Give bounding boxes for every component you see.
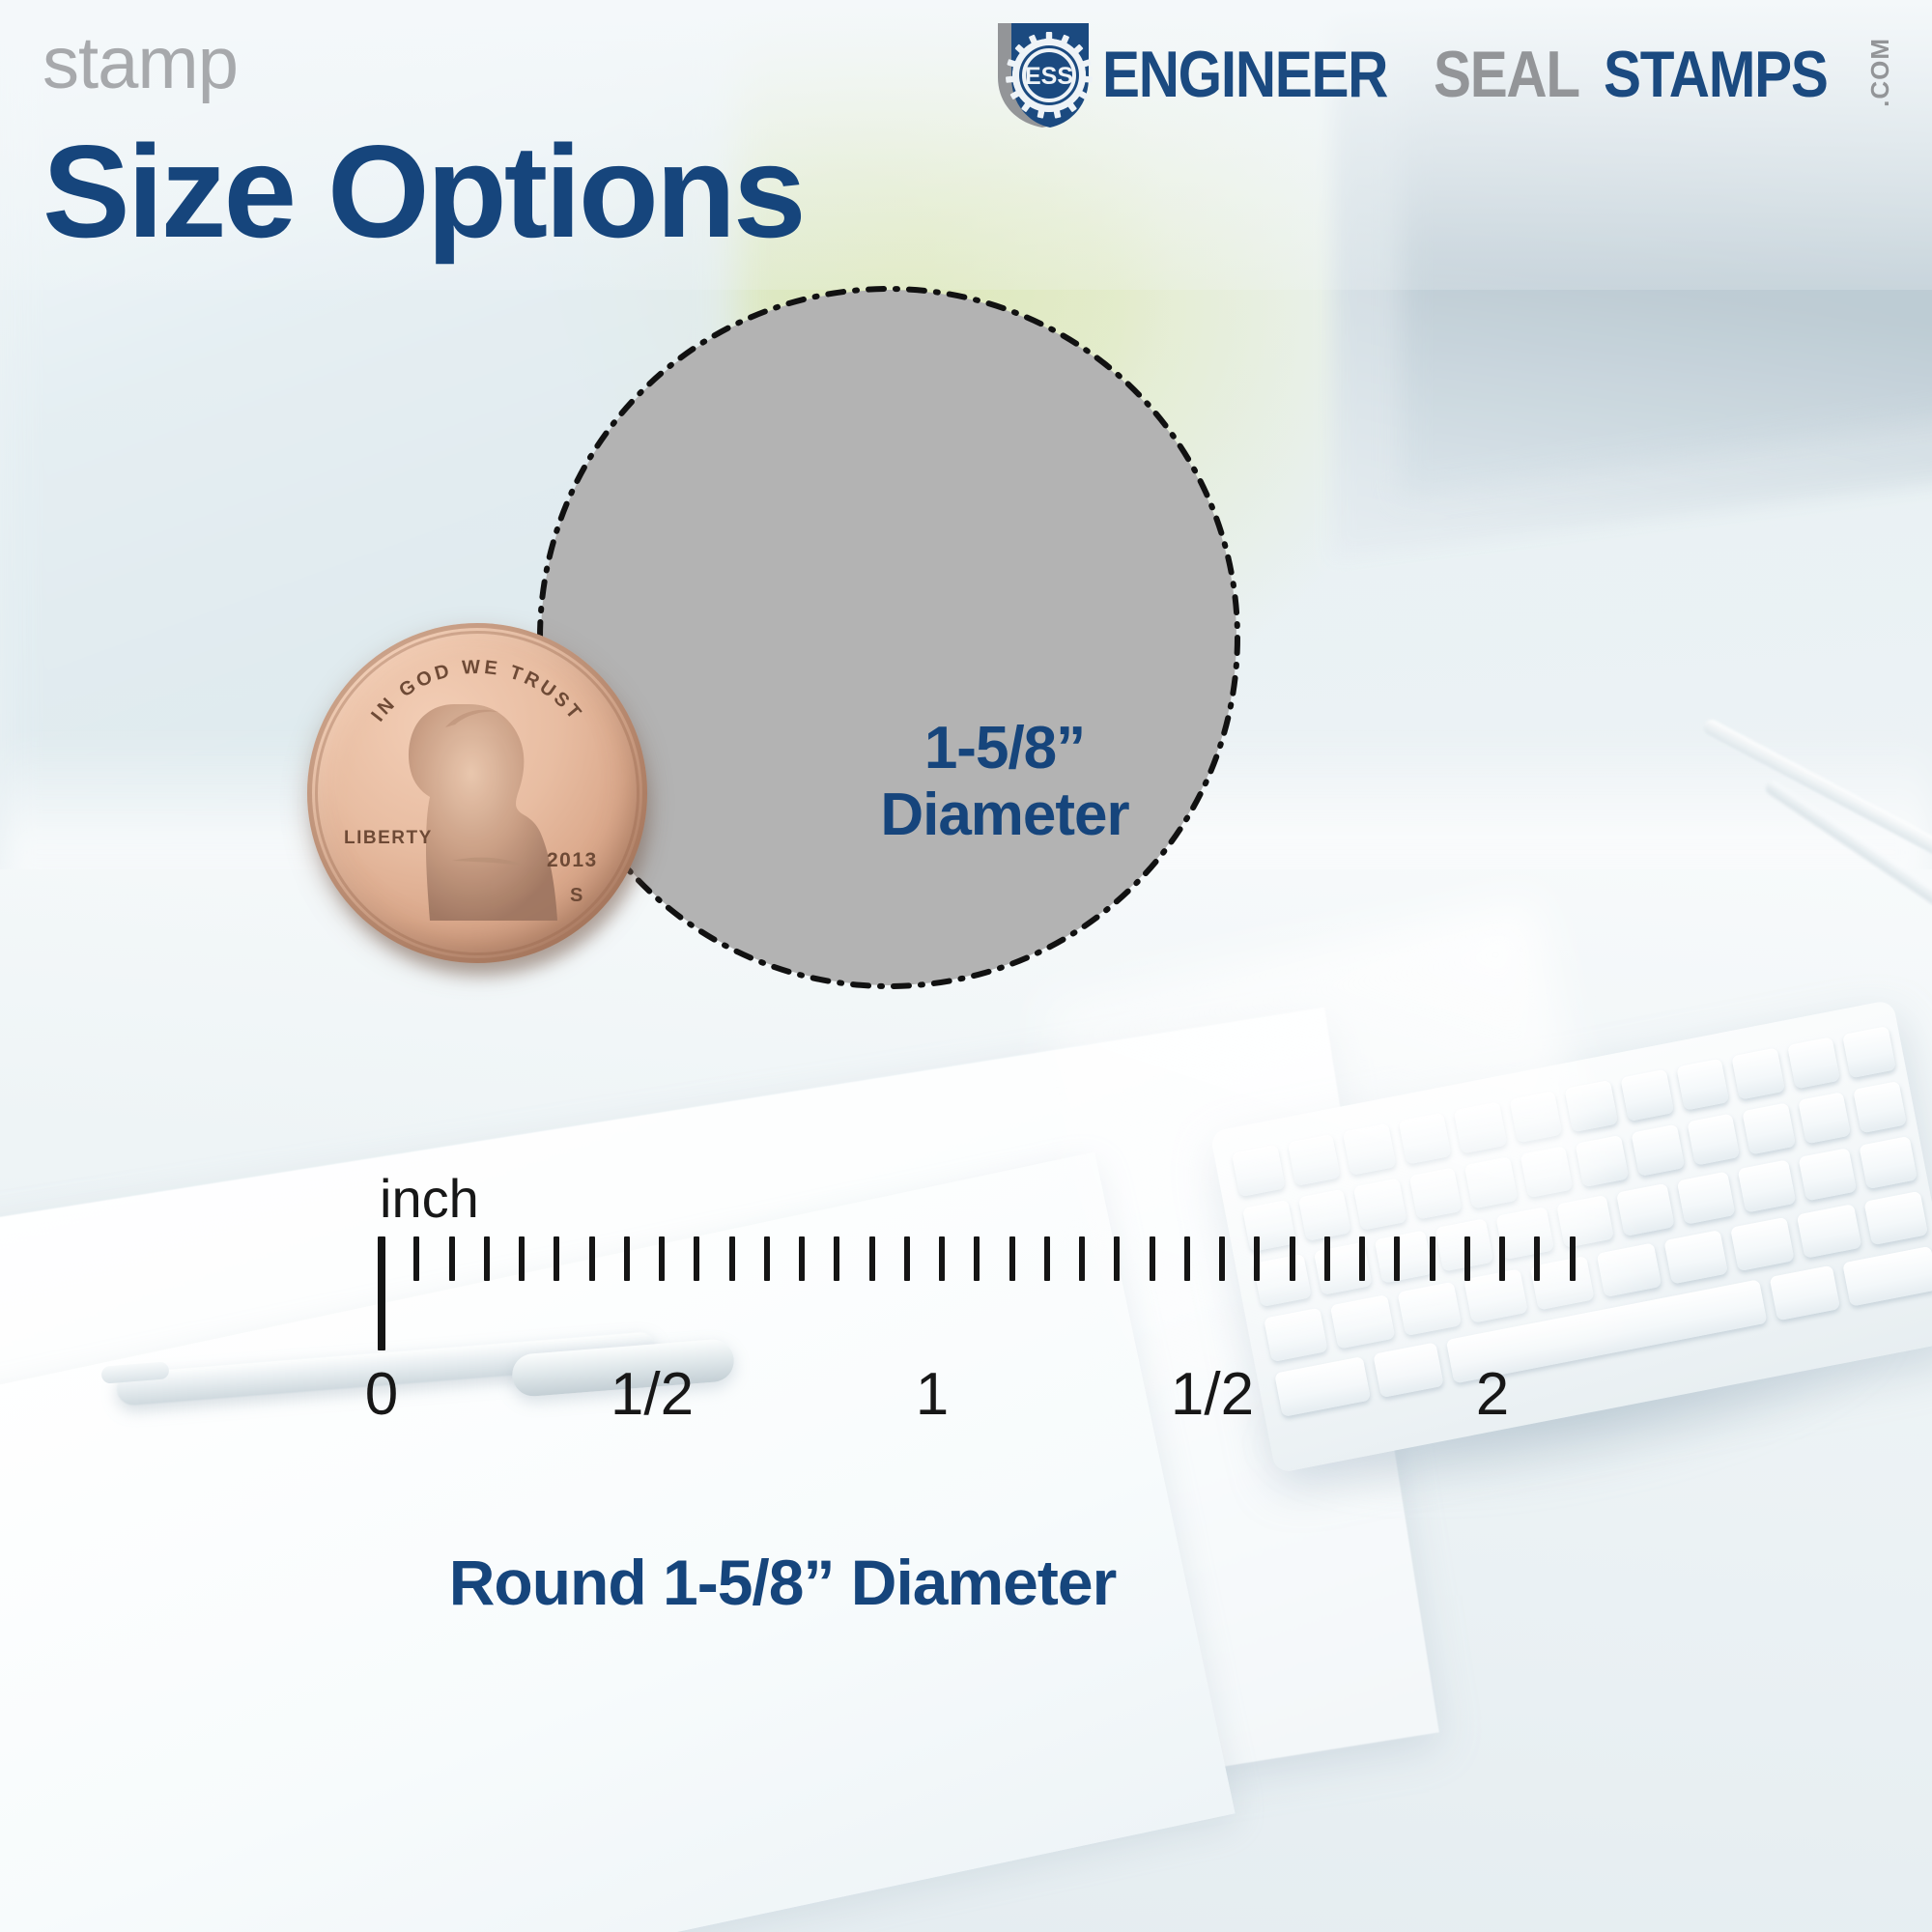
brand-logo[interactable]: ESS ENGINEER SEAL STAMPS .COM <box>982 17 1895 131</box>
ruler-tick-minor <box>1219 1236 1225 1281</box>
penny-mintmark-text: S <box>570 885 582 906</box>
brand-wordmark: ENGINEER SEAL STAMPS .COM <box>1102 38 1895 111</box>
ruler-tick-minor <box>1464 1236 1470 1281</box>
penny-reference-coin: IN GOD WE TRUST LIBERTY 2013 S <box>307 623 647 963</box>
ess-shield-icon: ESS <box>982 17 1096 131</box>
wordmark-dotcom: .COM <box>1865 38 1895 107</box>
ruler-tick-minor <box>1150 1236 1155 1281</box>
ruler-tick-minor <box>834 1236 839 1281</box>
ruler-label: 0 <box>314 1360 449 1429</box>
ruler-tick-minor <box>1254 1236 1260 1281</box>
ruler-tick-minor <box>413 1236 419 1281</box>
ruler-tick-minor <box>904 1236 910 1281</box>
ruler-tick-minor <box>484 1236 490 1281</box>
ruler-label: 1 <box>865 1360 1000 1429</box>
stamp-size-value: 1-5/8” <box>734 715 1275 781</box>
ruler-tick-minor <box>1184 1236 1190 1281</box>
ruler-tick-minor <box>1079 1236 1085 1281</box>
ruler-label: 2 <box>1425 1360 1560 1429</box>
ruler-tick-minor <box>1499 1236 1505 1281</box>
ruler-tick-minor <box>1290 1236 1295 1281</box>
ruler-tick-minor <box>764 1236 770 1281</box>
ruler-tick-minor <box>1324 1236 1330 1281</box>
ruler-tick-minor <box>799 1236 805 1281</box>
wordmark-stamps: STAMPS <box>1604 42 1828 107</box>
penny-liberty-text: LIBERTY <box>344 828 433 848</box>
wordmark-seal: SEAL <box>1434 42 1579 107</box>
ruler-tick-minor <box>1044 1236 1050 1281</box>
ruler-tick-major <box>378 1236 385 1350</box>
ruler-tick-minor <box>624 1236 630 1281</box>
ruler-tick-minor <box>974 1236 980 1281</box>
page-title: Size Options <box>43 126 804 257</box>
ruler-unit-label: inch <box>380 1167 479 1230</box>
ruler-tick-minor <box>519 1236 525 1281</box>
ruler-label: 1/2 <box>584 1360 720 1429</box>
ruler-tick-minor <box>1114 1236 1120 1281</box>
ruler-tick-minor <box>869 1236 875 1281</box>
ruler-tick-minor <box>659 1236 665 1281</box>
ruler-tick-minor <box>694 1236 699 1281</box>
ruler-tick-minor <box>1009 1236 1015 1281</box>
stamp-size-label: 1-5/8” Diameter <box>734 715 1275 849</box>
penny-face: IN GOD WE TRUST LIBERTY 2013 S <box>307 623 647 963</box>
ruler-tick-minor <box>449 1236 455 1281</box>
stamp-size-unit: Diameter <box>734 781 1275 848</box>
ruler-tick-minor <box>1359 1236 1365 1281</box>
ess-monogram-text: ESS <box>1025 63 1073 90</box>
penny-year-text: 2013 <box>547 849 598 871</box>
ruler-tick-minor <box>1570 1236 1576 1281</box>
size-caption: Round 1-5/8” Diameter <box>0 1546 1565 1619</box>
wordmark-engineer: ENGINEER <box>1102 42 1387 107</box>
eyebrow-label: stamp <box>43 27 238 100</box>
ruler-tick-minor <box>1430 1236 1435 1281</box>
ruler-label: 1/2 <box>1145 1360 1280 1429</box>
ruler-tick-minor <box>729 1236 735 1281</box>
ruler-tick-minor <box>589 1236 595 1281</box>
ruler-tick-minor <box>1394 1236 1400 1281</box>
ruler-tick-minor <box>939 1236 945 1281</box>
ruler-tick-minor <box>1534 1236 1540 1281</box>
ruler-tick-minor <box>554 1236 559 1281</box>
size-options-graphic: stamp Size Options <box>0 0 1932 1932</box>
